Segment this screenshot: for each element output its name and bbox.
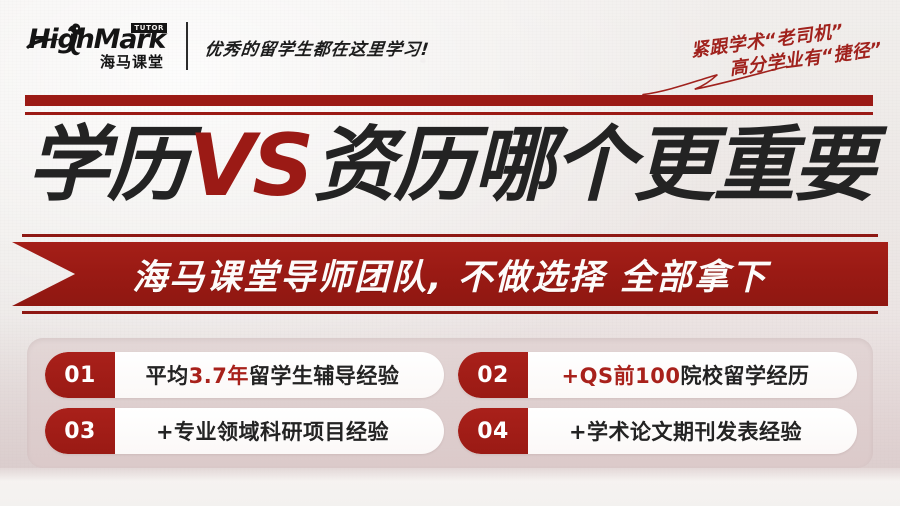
seahorse-icon <box>64 22 84 56</box>
feature-text-02-suffix: 院校留学经历 <box>680 360 809 390</box>
headline-vs: VS <box>187 123 314 209</box>
feature-item-02[interactable]: 02 +QS前100院校留学经历 <box>458 352 857 398</box>
feature-number-03: 03 <box>45 408 115 454</box>
feature-item-01[interactable]: 01 平均3.7年留学生辅导经验 <box>45 352 444 398</box>
feature-number-02: 02 <box>458 352 528 398</box>
brand-logo[interactable]: HighMark TUTOR 海马课堂 <box>28 24 170 72</box>
header-rule-group <box>25 95 873 115</box>
feature-item-04[interactable]: 04 +学术论文期刊发表经验 <box>458 408 857 454</box>
ribbon-line-bottom <box>22 311 878 314</box>
ribbon-line-top <box>22 234 878 237</box>
header-bar: HighMark TUTOR 海马课堂 优秀的留学生都在这里学习! 紧跟学术“老… <box>0 0 900 86</box>
headline-part-2: 资历哪个更重要 <box>313 125 873 207</box>
ribbon-shape <box>12 242 888 306</box>
brand-chinese-name: 海马课堂 <box>100 51 164 72</box>
feature-item-03[interactable]: 03 +专业领域科研项目经验 <box>45 408 444 454</box>
main-headline: 学历 VS 资历哪个更重要 <box>0 113 900 218</box>
feature-text-02: +QS前100院校留学经历 <box>528 360 857 390</box>
rule-thick <box>25 95 873 106</box>
header-slogan: 优秀的留学生都在这里学习! <box>204 35 431 60</box>
ribbon-banner: 海马课堂导师团队, 不做选择 全部拿下 <box>0 234 900 314</box>
tutor-badge: TUTOR <box>131 23 167 33</box>
feature-text-01-prefix: 平均 <box>146 360 189 390</box>
header-divider <box>186 22 188 70</box>
feature-text-01-highlight: 3.7年 <box>189 360 249 390</box>
feature-text-03-prefix: +专业领域科研项目经验 <box>156 416 389 446</box>
feature-text-01: 平均3.7年留学生辅导经验 <box>115 360 444 390</box>
feature-text-04-prefix: +学术论文期刊发表经验 <box>569 416 802 446</box>
poster-canvas: HighMark TUTOR 海马课堂 优秀的留学生都在这里学习! 紧跟学术“老… <box>0 0 900 506</box>
feature-text-01-suffix: 留学生辅导经验 <box>249 360 400 390</box>
feature-text-04: +学术论文期刊发表经验 <box>528 416 857 446</box>
feature-text-03: +专业领域科研项目经验 <box>115 416 444 446</box>
headline-part-1: 学历 <box>27 125 187 207</box>
bottom-paper-strip <box>0 468 900 506</box>
feature-text-02-highlight: +QS前100 <box>562 360 681 390</box>
feature-list: 01 平均3.7年留学生辅导经验 02 +QS前100院校留学经历 03 +专业… <box>45 352 857 454</box>
feature-number-01: 01 <box>45 352 115 398</box>
feature-number-04: 04 <box>458 408 528 454</box>
